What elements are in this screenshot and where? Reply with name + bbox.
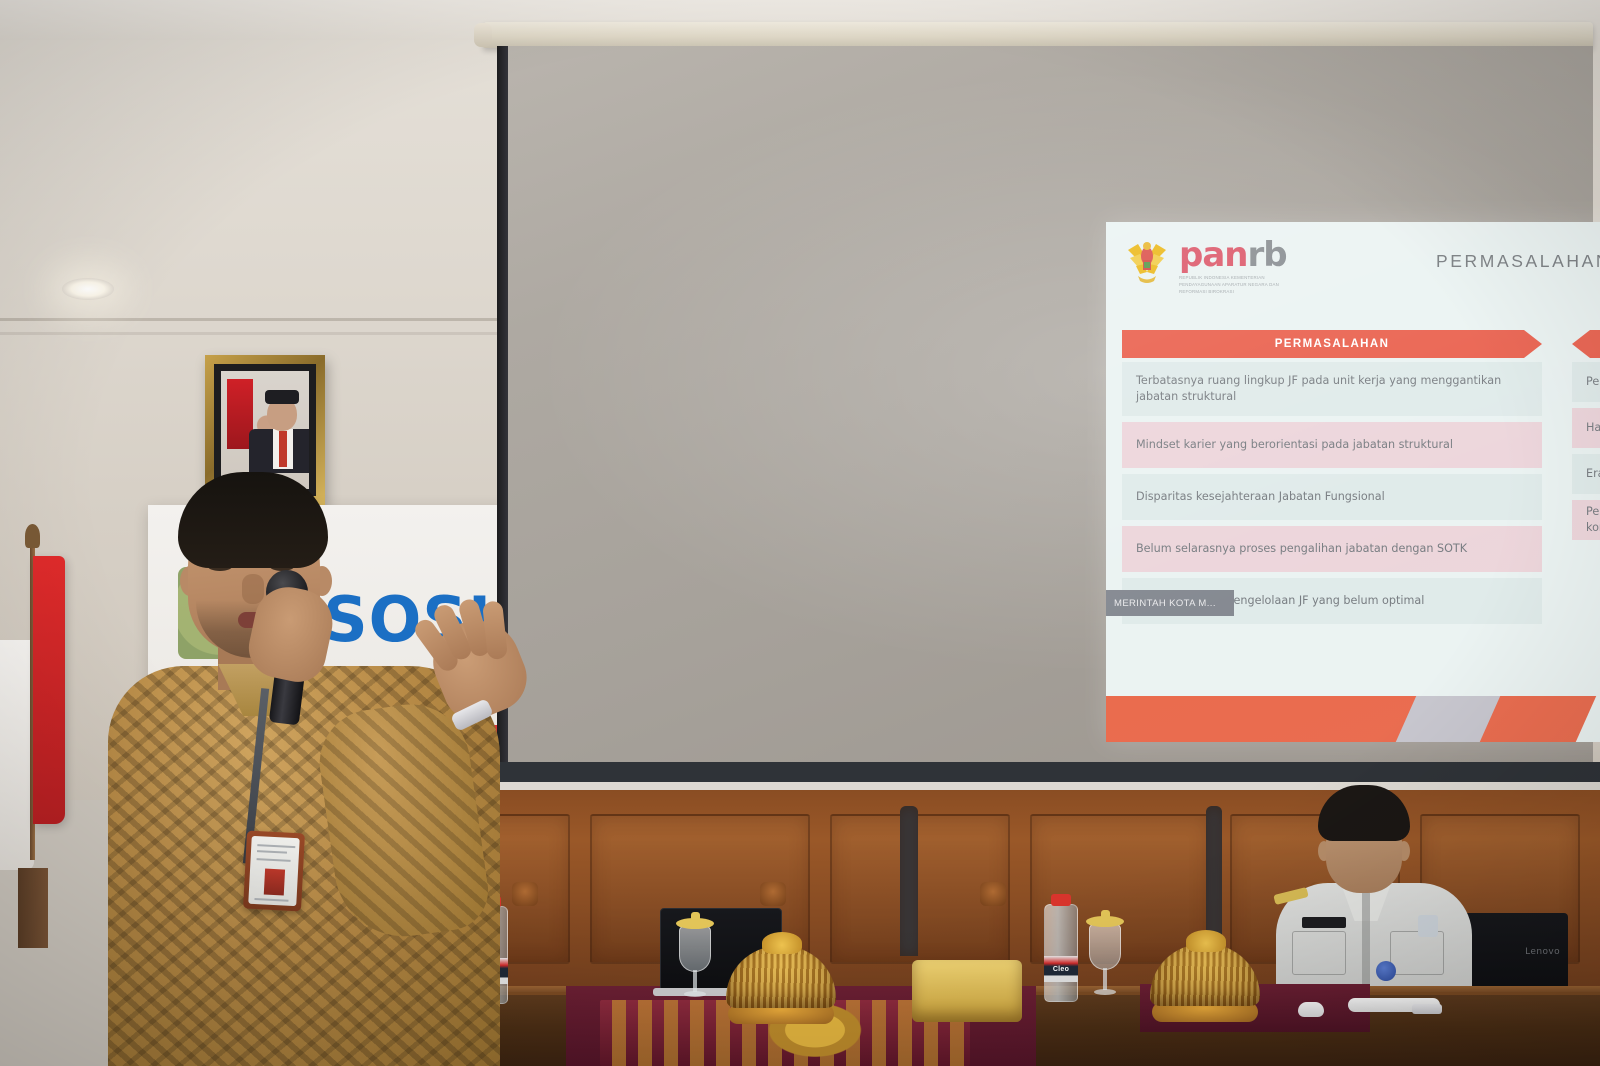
standing-presenter [100, 470, 510, 1066]
covered-wine-glass-right [1086, 910, 1124, 996]
list-item: Terbatasnya ruang lingkup JF pada unit k… [1122, 362, 1542, 416]
projector-screen: panrb REPUBLIK INDONESIA KEMENTERIAN PEN… [508, 46, 1593, 770]
portrait-cap [265, 390, 299, 404]
projector-screen-roller [483, 22, 1593, 48]
footer-stripe-red-2 [1480, 696, 1596, 742]
column-heading-tantangan: TANTANGAN [1572, 330, 1600, 358]
taskbar-window-title[interactable]: MERINTAH KOTA M... [1106, 590, 1234, 616]
glass-bowl [1089, 924, 1121, 970]
presenter-hair [178, 472, 328, 568]
slide-header: panrb REPUBLIK INDONESIA KEMENTERIAN PEN… [1106, 222, 1600, 318]
gold-tumpeng-cover-left [726, 932, 836, 1018]
desk-carving [980, 882, 1006, 906]
list-item: Belum selarasnya proses pengalihan jabat… [1122, 526, 1542, 572]
column-heading-left-text: PERMASALAHAN [1275, 338, 1390, 350]
panrb-logo: panrb REPUBLIK INDONESIA KEMENTERIAN PEN… [1124, 234, 1289, 295]
flag-white-part [0, 640, 34, 870]
panrb-wordmark: panrb [1179, 238, 1289, 272]
ceiling-downlight [62, 278, 114, 300]
presentation-photo-scene: SOSIA [0, 0, 1600, 1066]
glass-foot [1094, 989, 1116, 995]
official-shoulder-emblem [1418, 915, 1438, 937]
list-item: Mindset karier yang berorientasi pada ja… [1122, 422, 1542, 468]
badge-text-line [254, 898, 288, 902]
panrb-wordmark-block: panrb REPUBLIK INDONESIA KEMENTERIAN PEN… [1179, 234, 1289, 295]
water-bottle-right: Cleo [1044, 894, 1078, 1002]
list-item: Era Digitalisasi dan Informasi [1572, 454, 1600, 494]
bottle-body [1044, 904, 1078, 1002]
glass-stem [1103, 968, 1107, 990]
badge-text-line [257, 844, 295, 848]
glass-lid-knob [1101, 910, 1110, 919]
badge-photo [264, 869, 285, 896]
glass-foot [684, 991, 706, 997]
list-item: Pengelolaan kinerja dan karier yang terb… [1572, 500, 1600, 540]
slide-title-plain: PERMASALAHAN DAN [1436, 251, 1600, 272]
gold-tumpeng-cover-right [1150, 930, 1254, 1016]
glass-lid-knob [691, 912, 700, 921]
glass-stem [693, 970, 697, 992]
chair-divider [900, 806, 918, 956]
desk-phone-object [1412, 1004, 1442, 1014]
panrb-pan-text: pan [1179, 235, 1248, 275]
bottle-cap [1051, 894, 1071, 906]
desk-carving [760, 882, 786, 906]
official-hair [1318, 785, 1410, 841]
flag-stand [18, 868, 48, 948]
yellow-box-center [912, 946, 1030, 1008]
column-heading-permasalahan: PERMASALAHAN [1122, 330, 1542, 358]
wall-dark-rail [495, 762, 1600, 782]
indonesian-flag [33, 556, 65, 824]
list-item: Peningkatan profesionalisme dan kompeten… [1572, 362, 1600, 402]
official-pocket-right [1390, 931, 1444, 975]
list-item: Harapan pelayanan publik yang lebih baik [1572, 408, 1600, 448]
panrb-subtitle: REPUBLIK INDONESIA KEMENTERIAN PENDAYAGU… [1179, 275, 1289, 295]
glass-bowl [679, 926, 711, 972]
panrb-rb-text: rb [1248, 235, 1287, 275]
official-pocket-left [1292, 931, 1346, 975]
yellow-box-body [912, 960, 1022, 1022]
badge-text-line [257, 858, 291, 862]
slide-footer-band: BerAKHLAK BERORIENTASI PELAYANAN AKUNTAB… [1106, 696, 1600, 742]
laptop-brand-label: Lenovo [1525, 947, 1560, 957]
covered-wine-glass-left [676, 912, 714, 998]
flag-finial [25, 524, 40, 548]
footer-stripe-red-1 [1106, 696, 1426, 742]
badge-text-line [257, 850, 287, 854]
official-lapel-pin [1376, 961, 1396, 981]
tumpeng-finial [1186, 930, 1226, 952]
computer-mouse [1298, 1002, 1324, 1017]
tumpeng-dome [726, 946, 836, 1008]
desk-carving [512, 882, 538, 906]
tumpeng-finial [762, 932, 802, 954]
id-badge-card [248, 836, 299, 906]
presentation-slide: panrb REPUBLIK INDONESIA KEMENTERIAN PEN… [1106, 222, 1600, 742]
list-item: Disparitas kesejahteraan Jabatan Fungsio… [1122, 474, 1542, 520]
presenter-id-badge [243, 831, 305, 912]
portrait-tie [279, 431, 287, 467]
bottle-label: Cleo [1044, 956, 1078, 982]
garuda-emblem [1124, 234, 1170, 288]
official-nametag [1302, 917, 1346, 928]
tumpeng-dome [1150, 944, 1260, 1006]
bottle-brand-text: Cleo [1053, 966, 1069, 973]
